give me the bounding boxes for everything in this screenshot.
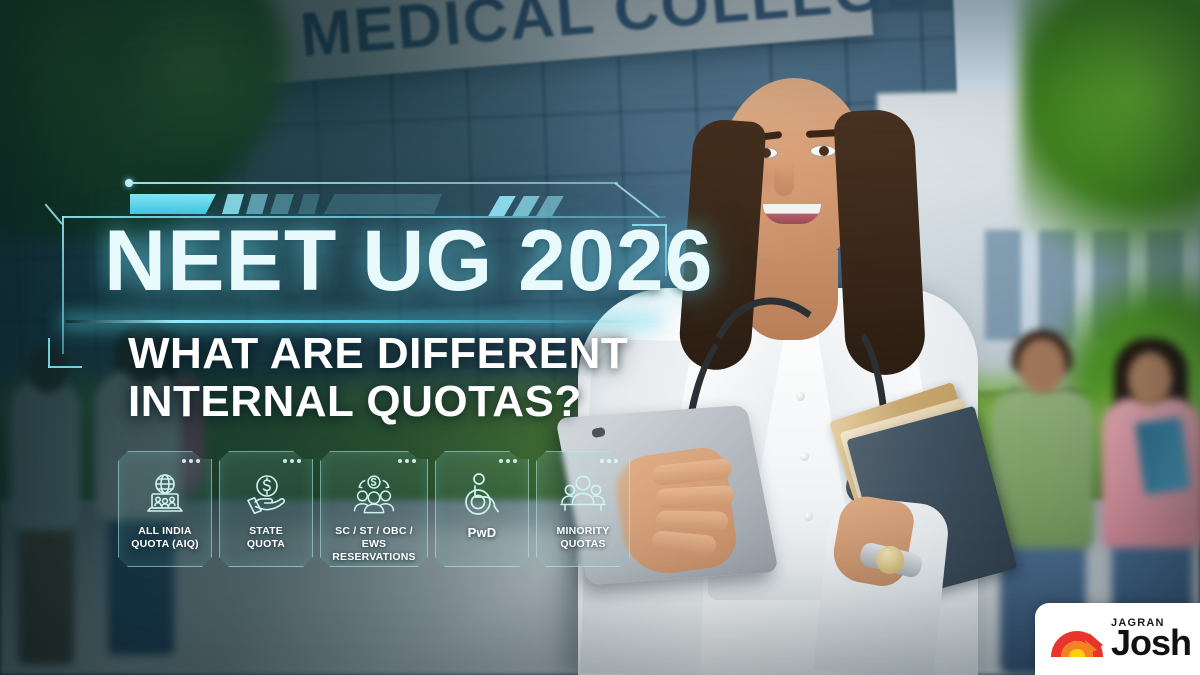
quota-card-reservations[interactable]: SC / ST / OBC / EWS RESERVATIONS <box>320 451 428 567</box>
hud-segment-3 <box>270 194 294 214</box>
hud-segment-5 <box>324 194 442 214</box>
globe-laptop-people-icon <box>140 472 190 518</box>
card-label-line2: QUOTAS <box>560 538 605 550</box>
card-label-line1: ALL INDIA <box>138 525 192 537</box>
medical-student-subject <box>560 0 1040 675</box>
card-menu-dots <box>398 459 416 463</box>
quota-card-all-india[interactable]: ALL INDIA QUOTA (AIQ) <box>118 451 212 567</box>
hand-holding-coin-icon <box>241 472 291 518</box>
subject-nose <box>774 162 794 196</box>
logo-wordmark: JAGRAN Josh <box>1111 618 1191 661</box>
finger-middle <box>656 485 735 509</box>
card-label-line1: STATE <box>249 525 283 537</box>
card-label-line2: RESERVATIONS <box>332 551 416 563</box>
subtitle-line-1: WHAT ARE DIFFERENT <box>128 330 628 378</box>
coat-button-3 <box>804 512 813 521</box>
quota-card-pwd[interactable]: PwD <box>435 451 529 567</box>
card-menu-dots <box>600 459 618 463</box>
card-label-line2: QUOTA <box>247 538 285 550</box>
card-menu-dots <box>283 459 301 463</box>
card-menu-dots <box>182 459 200 463</box>
sunrise-arc-icon <box>1049 619 1105 659</box>
card-label: MINORITY QUOTAS <box>554 525 613 551</box>
logo-josh-text: Josh <box>1111 625 1191 661</box>
quota-card-list: ALL INDIA QUOTA (AIQ) STATE QUOTA <box>118 451 630 567</box>
jagran-josh-logo[interactable]: JAGRAN Josh <box>1035 603 1200 675</box>
subtitle-line-2: INTERNAL QUOTAS? <box>128 378 628 426</box>
card-label: STATE QUOTA <box>244 525 288 551</box>
subject-pupil-right <box>819 146 829 156</box>
wheelchair-accessibility-icon <box>457 472 507 518</box>
card-label: PwD <box>465 525 500 541</box>
hud-segment-2 <box>246 194 268 214</box>
people-group-desk-icon <box>558 472 608 518</box>
page-title: NEET UG 2026 <box>104 218 713 304</box>
hud-segment-1 <box>222 194 244 214</box>
card-menu-dots <box>499 459 517 463</box>
card-label-line1: SC / ST / OBC / EWS <box>335 525 413 550</box>
card-label-line1: PwD <box>468 525 497 540</box>
quota-card-minority[interactable]: MINORITY QUOTAS <box>536 451 630 567</box>
page-subtitle: WHAT ARE DIFFERENT INTERNAL QUOTAS? <box>128 330 628 425</box>
card-label-line2: QUOTA (AIQ) <box>131 538 199 550</box>
card-label-line1: MINORITY <box>557 525 610 537</box>
hud-top-line <box>130 182 618 184</box>
card-label: SC / ST / OBC / EWS RESERVATIONS <box>321 525 427 563</box>
card-label: ALL INDIA QUOTA (AIQ) <box>128 525 202 551</box>
hud-underline-glow <box>66 320 656 323</box>
hud-frame-left-edge <box>62 216 64 354</box>
hud-segment-4 <box>298 194 320 214</box>
finger-ring <box>656 510 728 531</box>
thumbnail-canvas: MEDICAL COLLEGE <box>0 0 1200 675</box>
quota-card-state[interactable]: STATE QUOTA <box>219 451 313 567</box>
hud-frame-corner-bottom-left-h <box>48 366 82 368</box>
hud-progress-fill <box>130 194 216 214</box>
hud-frame-corner-bottom-left-v <box>48 338 50 368</box>
group-people-coin-icon <box>349 472 399 518</box>
